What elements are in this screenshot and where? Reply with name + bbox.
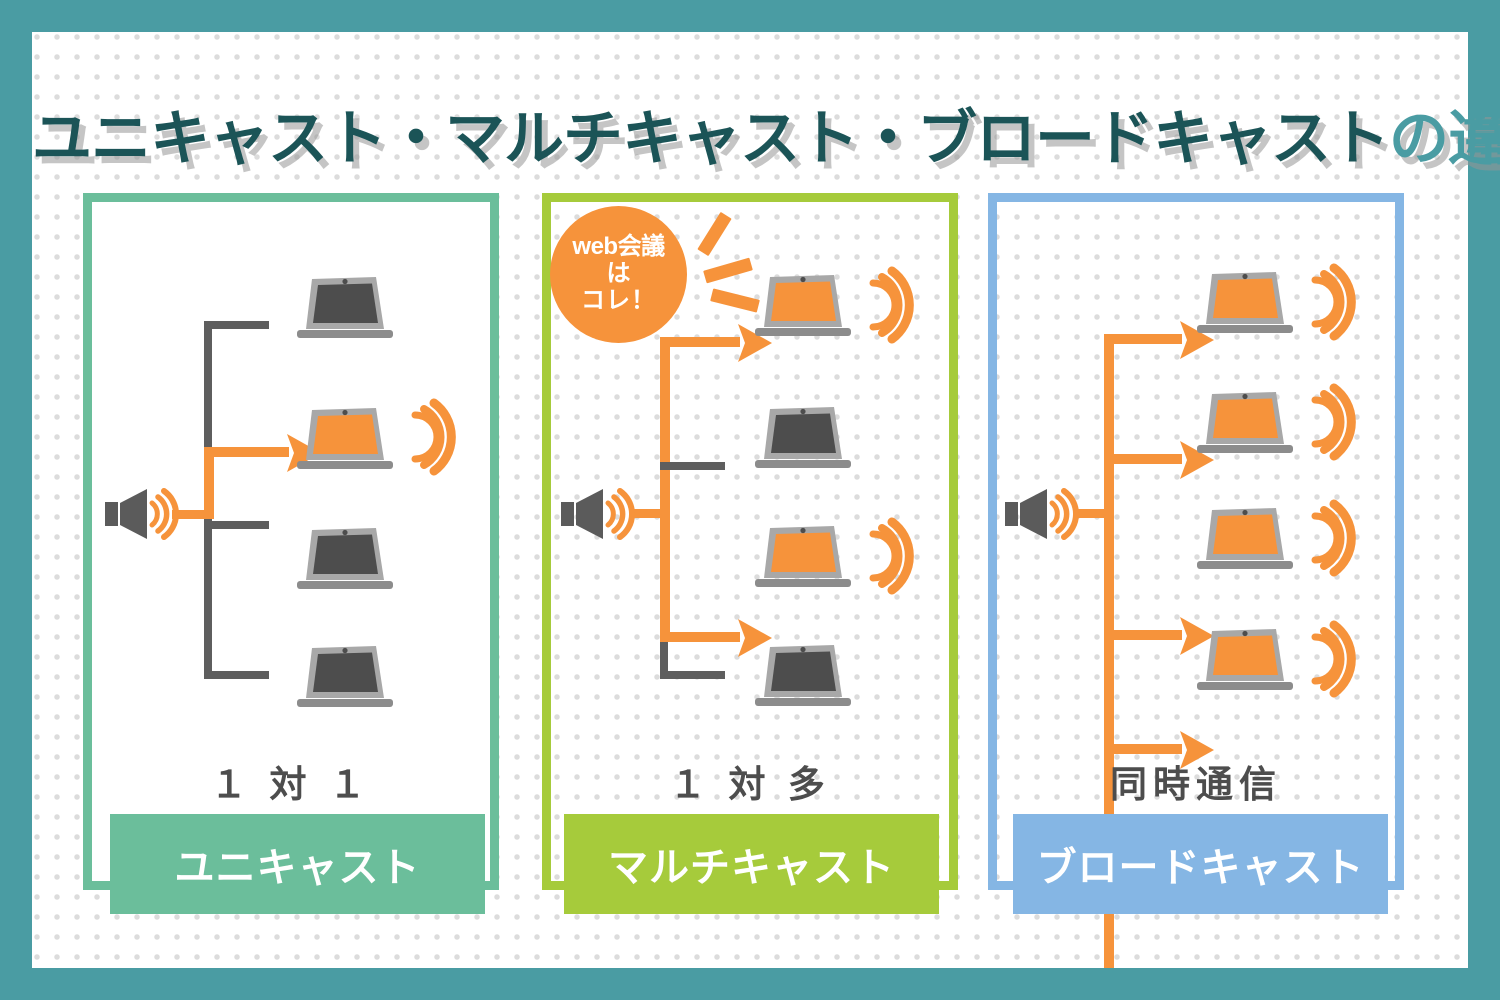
page-title-accent: の違い: [1389, 105, 1500, 172]
sublabel-multicast: １ 対 多: [542, 754, 958, 808]
badge-line-1: web会議: [572, 234, 664, 261]
sublabel-broadcast: 同時通信: [988, 754, 1404, 808]
band-multicast[interactable]: マルチキャスト: [564, 814, 939, 914]
dotted-canvas: ユニキャスト・マルチキャスト・ブロードキャストの違い: [32, 32, 1468, 968]
sublabel-unicast: １ 対 １: [83, 754, 499, 808]
band-unicast[interactable]: ユニキャスト: [110, 814, 485, 914]
badge-line-3: コレ！: [581, 288, 656, 315]
web-meeting-badge[interactable]: web会議 は コレ！: [550, 206, 687, 343]
page-title: ユニキャスト・マルチキャスト・ブロードキャストの違い: [32, 90, 1468, 177]
page-title-main: ユニキャスト・マルチキャスト・ブロードキャスト: [32, 105, 1389, 172]
outer-frame: ユニキャスト・マルチキャスト・ブロードキャストの違い: [0, 0, 1500, 1000]
band-broadcast[interactable]: ブロードキャスト: [1013, 814, 1388, 914]
badge-line-2: は: [607, 261, 631, 288]
